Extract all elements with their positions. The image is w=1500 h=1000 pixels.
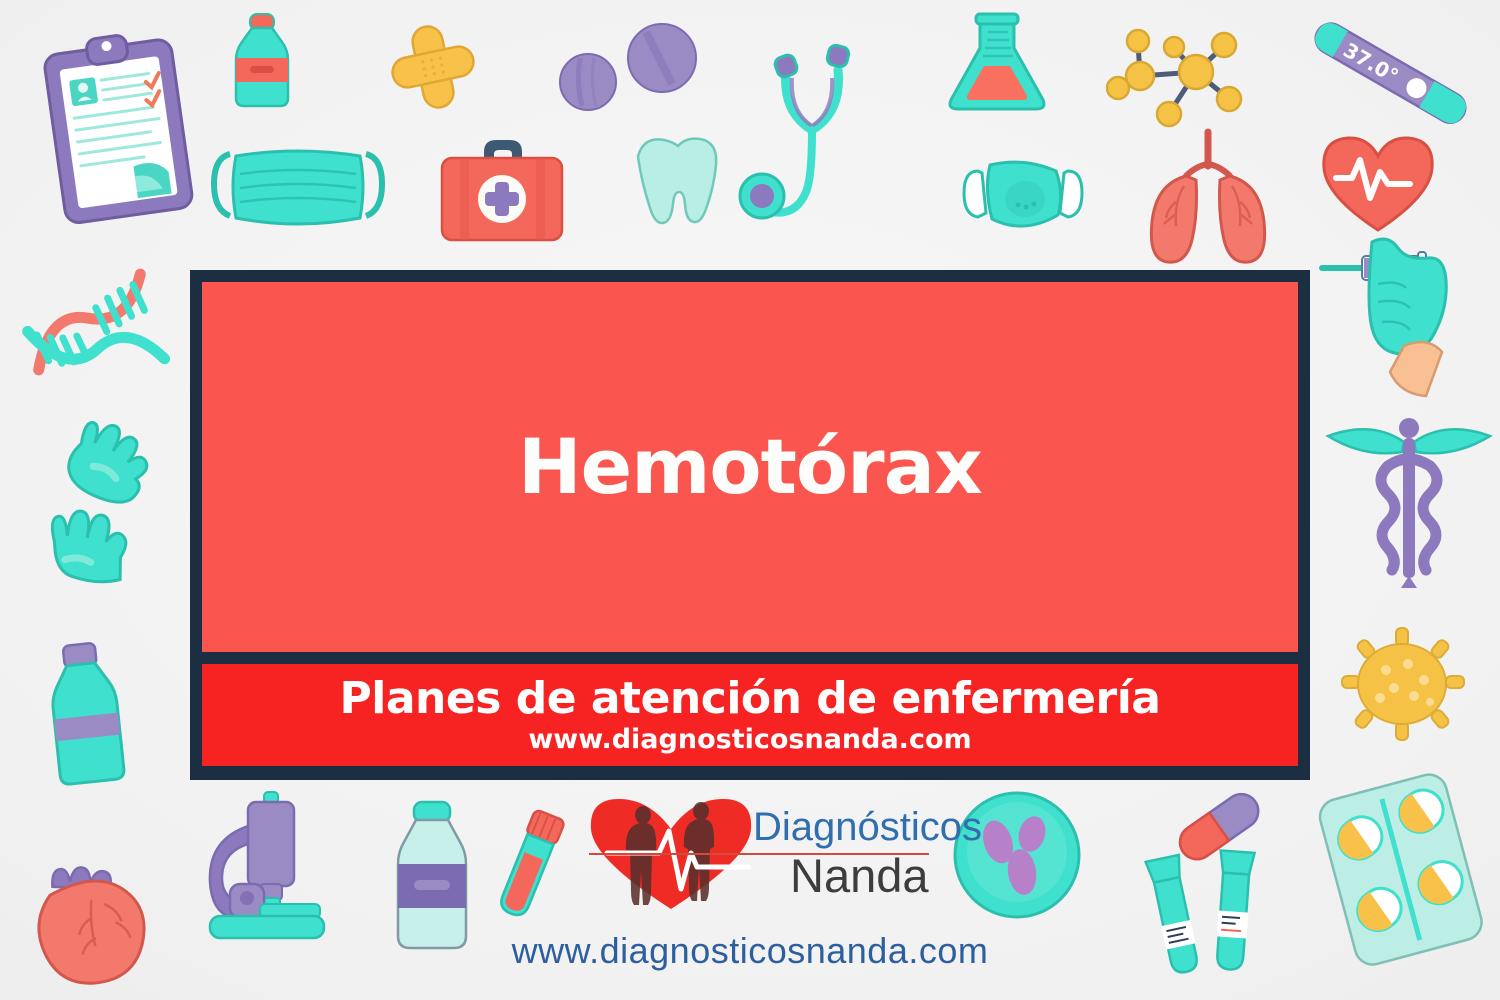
test-tube-pair-icon [1140, 848, 1290, 998]
logo-heart-figures-icon [583, 797, 758, 915]
medicine-bottle-icon [222, 10, 302, 120]
caduceus-icon [1324, 404, 1494, 619]
poster-canvas: 37.0° [0, 0, 1500, 1000]
logo-word-primary: Diagnósticos [753, 805, 982, 850]
vaccine-bottle-icon [36, 640, 136, 790]
card-title-panel: Hemotórax [202, 282, 1298, 652]
glove-lower-icon [38, 500, 138, 600]
page-title: Hemotórax [518, 429, 982, 505]
surgical-mask-icon [208, 140, 388, 240]
card-subtitle-panel: Planes de atención de enfermería www.dia… [202, 664, 1298, 766]
card-divider [202, 652, 1298, 664]
virus-germ-icon [1338, 626, 1468, 746]
card-subtitle: Planes de atención de enfermería [340, 677, 1161, 722]
first-aid-kit-icon [432, 128, 572, 248]
pill-tablet-small-icon [558, 52, 618, 112]
stethoscope-icon [744, 18, 894, 248]
tooth-icon [618, 130, 728, 240]
card-url: www.diagnosticosnanda.com [528, 725, 971, 755]
heart-ecg-icon [1318, 130, 1438, 240]
brand-logo[interactable]: Diagnósticos Nanda [575, 795, 945, 915]
logo-word-secondary: Nanda [790, 848, 929, 903]
pill-tablet-large-icon [626, 22, 698, 94]
syringe-gloved-hand-icon [1300, 228, 1490, 403]
blood-test-tube-icon [486, 806, 576, 936]
footer-url[interactable]: www.diagnosticosnanda.com [0, 930, 1500, 972]
erlenmeyer-flask-icon [942, 10, 1052, 120]
lungs-icon [1140, 124, 1280, 264]
molecule-icon [1104, 14, 1254, 134]
dna-helix-icon [20, 274, 190, 384]
glove-upper-icon [52, 418, 152, 513]
microscope-icon [188, 786, 338, 946]
n95-respirator-mask-icon [958, 155, 1088, 255]
adhesive-bandage-cross-icon [388, 22, 478, 112]
thermometer-icon: 37.0° [1300, 14, 1480, 134]
clipboard-medical-record-icon [40, 28, 200, 228]
title-card: Hemotórax Planes de atención de enfermer… [190, 270, 1310, 780]
